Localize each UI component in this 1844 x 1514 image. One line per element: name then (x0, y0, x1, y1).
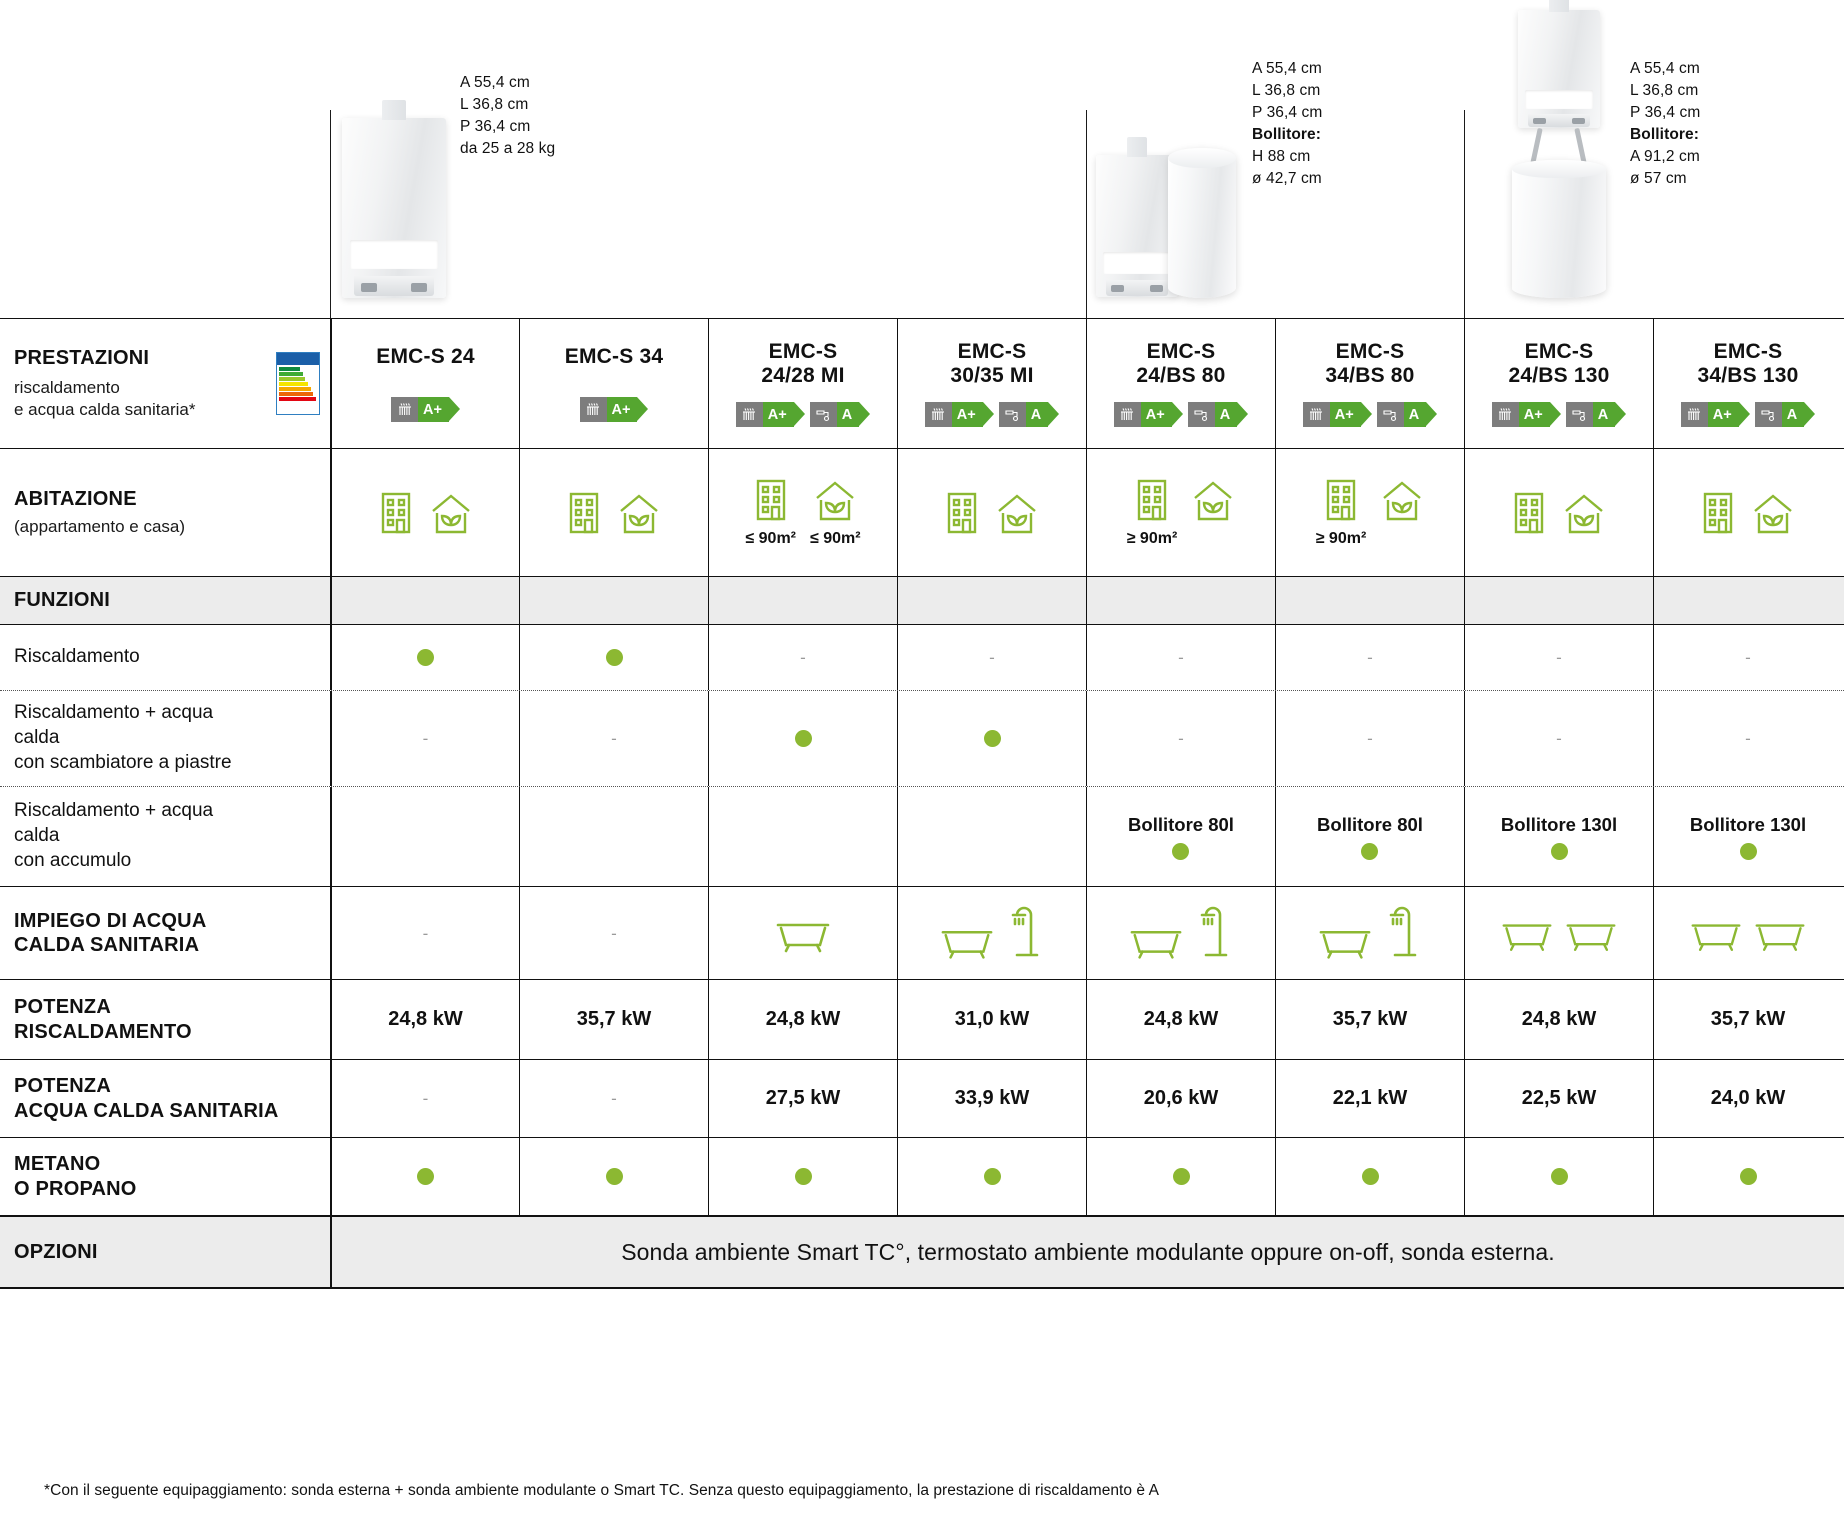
building-icon (379, 491, 413, 535)
cell-riscaldamento-5: - (1275, 625, 1464, 690)
energy-badges-7: A+ A (1681, 402, 1815, 427)
cell-abitazione-7 (1653, 449, 1842, 576)
model-name-2: EMC-S 24/28 MI (761, 340, 844, 389)
house-leaf-icon (1191, 478, 1235, 522)
building-icon (567, 491, 601, 535)
cell-funzioni-7 (1653, 577, 1842, 624)
cell-prestazioni-3: EMC-S 30/35 MI A+ A (897, 319, 1086, 448)
bathtub-icon (1564, 913, 1618, 953)
row-riscaldamento: Riscaldamento - - - - - - (0, 624, 1844, 690)
dimensions-bs80: A 55,4 cm L 36,8 cm P 36,4 cm Bollitore:… (1252, 58, 1322, 190)
no-dash: - (611, 1090, 617, 1107)
building-icon (945, 491, 979, 535)
shower-icon (1009, 905, 1045, 961)
yes-dot (1551, 843, 1568, 860)
bathtub-icon (1500, 913, 1554, 953)
cell-impiego-7 (1653, 887, 1842, 979)
no-dash: - (1178, 730, 1184, 747)
energy-badges-6: A+ A (1492, 402, 1626, 427)
house-leaf-icon (1751, 491, 1795, 535)
cell-riscaldamento-0 (330, 625, 519, 690)
bathtub-icon (1317, 919, 1373, 961)
area-tag-building-2: ≤ 90m² (745, 530, 796, 548)
cell-abitazione-2: ≤ 90m² ≤ 90m² (708, 449, 897, 576)
cell-riscaldamento-6: - (1464, 625, 1653, 690)
cell-risc-piastre-3 (897, 691, 1086, 786)
cell-risc-piastre-4: - (1086, 691, 1275, 786)
row-label-riscaldamento-piastre: Riscaldamento + acqua calda con scambiat… (0, 691, 330, 786)
cell-potenza-acs-0: - (330, 1060, 519, 1137)
no-dash: - (423, 730, 429, 747)
yes-dot (417, 649, 434, 666)
boiler-image (342, 118, 446, 298)
funzioni-title: FUNZIONI (14, 588, 330, 612)
row-label-abitazione: ABITAZIONE (appartamento e casa) (0, 449, 330, 576)
impiego-title: IMPIEGO DI ACQUA CALDA SANITARIA (14, 909, 330, 958)
cell-potenza-risc-0: 24,8 kW (330, 980, 519, 1059)
cell-metano-4 (1086, 1138, 1275, 1215)
model-name-4: EMC-S 24/BS 80 (1136, 340, 1225, 389)
cell-metano-2 (708, 1138, 897, 1215)
no-dash: - (1745, 730, 1751, 747)
row-prestazioni: PRESTAZIONI riscaldamento e acqua calda … (0, 318, 1844, 448)
metano-title: METANO O PROPANO (14, 1152, 330, 1201)
house-leaf-icon (813, 478, 857, 522)
prestazioni-sub1: riscaldamento (14, 377, 264, 399)
abitazione-sub: (appartamento e casa) (14, 516, 330, 538)
bollitore-caption-5: Bollitore 80l (1317, 814, 1423, 836)
cell-riscaldamento-4: - (1086, 625, 1275, 690)
row-label-metano: METANO O PROPANO (0, 1138, 330, 1215)
row-riscaldamento-accumulo: Riscaldamento + acqua calda con accumulo… (0, 786, 1844, 886)
cell-opzioni-text: Sonda ambiente Smart TC°, termostato amb… (330, 1217, 1844, 1287)
cell-metano-3 (897, 1138, 1086, 1215)
row-opzioni: OPZIONI Sonda ambiente Smart TC°, termos… (0, 1215, 1844, 1289)
cell-impiego-6 (1464, 887, 1653, 979)
cell-abitazione-1 (519, 449, 708, 576)
bathtub-icon (1753, 913, 1807, 953)
cell-metano-5 (1275, 1138, 1464, 1215)
no-dash: - (423, 1090, 429, 1107)
cell-potenza-acs-2: 27,5 kW (708, 1060, 897, 1137)
dimensions-bs130: A 55,4 cm L 36,8 cm P 36,4 cm Bollitore:… (1630, 58, 1700, 190)
yes-dot (795, 730, 812, 747)
no-dash: - (1367, 730, 1373, 747)
building-icon (1135, 478, 1169, 522)
yes-dot (417, 1168, 434, 1185)
yes-dot (606, 649, 623, 666)
no-dash: - (989, 649, 995, 666)
row-label-potenza-acs: POTENZA ACQUA CALDA SANITARIA (0, 1060, 330, 1137)
cell-potenza-acs-6: 22,5 kW (1464, 1060, 1653, 1137)
bathtub-icon (1689, 913, 1743, 953)
cell-riscaldamento-7: - (1653, 625, 1842, 690)
potenza-risc-title: POTENZA RISCALDAMENTO (14, 995, 330, 1044)
no-dash: - (611, 730, 617, 747)
row-label-riscaldamento: Riscaldamento (0, 625, 330, 690)
storage-tank-image-80l (1168, 148, 1236, 298)
cell-funzioni-0 (330, 577, 519, 624)
cell-potenza-risc-6: 24,8 kW (1464, 980, 1653, 1059)
energy-badges-1: A+ (580, 397, 649, 422)
area-tag-building-5: ≥ 90m² (1316, 530, 1367, 548)
cell-metano-1 (519, 1138, 708, 1215)
cell-riscaldamento-2: - (708, 625, 897, 690)
storage-tank-image-130l (1512, 160, 1606, 298)
row-metano-propano: METANO O PROPANO (0, 1137, 1844, 1215)
row-label-opzioni: OPZIONI (0, 1217, 330, 1287)
cell-potenza-risc-4: 24,8 kW (1086, 980, 1275, 1059)
cell-potenza-acs-1: - (519, 1060, 708, 1137)
no-dash: - (1178, 649, 1184, 666)
bollitore-caption-6: Bollitore 130l (1501, 814, 1617, 836)
yes-dot (1361, 843, 1378, 860)
row-funzioni-header: FUNZIONI (0, 576, 1844, 624)
cell-risc-piastre-6: - (1464, 691, 1653, 786)
cell-risc-piastre-1: - (519, 691, 708, 786)
cell-risc-accumulo-2 (708, 787, 897, 886)
bathtub-icon (1128, 919, 1184, 961)
energy-badges-4: A+ A (1114, 402, 1248, 427)
house-leaf-icon (429, 491, 473, 535)
opzioni-title: OPZIONI (14, 1240, 330, 1264)
no-dash: - (423, 925, 429, 942)
row-abitazione: ABITAZIONE (appartamento e casa) ≤ 90m² (0, 448, 1844, 576)
cell-prestazioni-0: EMC-S 24 A+ (330, 319, 519, 448)
cell-prestazioni-1: EMC-S 34 A+ (519, 319, 708, 448)
energy-badges-2: A+ A (736, 402, 870, 427)
no-dash: - (1556, 649, 1562, 666)
cell-funzioni-2 (708, 577, 897, 624)
cell-impiego-5 (1275, 887, 1464, 979)
shower-icon (1387, 905, 1423, 961)
cell-potenza-risc-7: 35,7 kW (1653, 980, 1842, 1059)
no-dash: - (800, 649, 806, 666)
house-leaf-icon (1380, 478, 1424, 522)
building-icon (1701, 491, 1735, 535)
row-label-riscaldamento-accumulo: Riscaldamento + acqua calda con accumulo (0, 787, 330, 886)
cell-risc-accumulo-7: Bollitore 130l (1653, 787, 1842, 886)
cell-abitazione-4: ≥ 90m² (1086, 449, 1275, 576)
cell-risc-accumulo-4: Bollitore 80l (1086, 787, 1275, 886)
cell-metano-7 (1653, 1138, 1842, 1215)
no-dash: - (1556, 730, 1562, 747)
row-label-potenza-risc: POTENZA RISCALDAMENTO (0, 980, 330, 1059)
cell-risc-accumulo-5: Bollitore 80l (1275, 787, 1464, 886)
building-icon (1324, 478, 1358, 522)
cell-funzioni-1 (519, 577, 708, 624)
yes-dot (1172, 843, 1189, 860)
row-impiego-acqua: IMPIEGO DI ACQUA CALDA SANITARIA - - (0, 886, 1844, 979)
building-icon (754, 478, 788, 522)
cell-potenza-acs-7: 24,0 kW (1653, 1060, 1842, 1137)
model-name-5: EMC-S 34/BS 80 (1325, 340, 1414, 389)
cell-funzioni-6 (1464, 577, 1653, 624)
yes-dot (1551, 1168, 1568, 1185)
cell-abitazione-5: ≥ 90m² (1275, 449, 1464, 576)
house-leaf-icon (995, 491, 1039, 535)
cell-metano-0 (330, 1138, 519, 1215)
cell-potenza-risc-3: 31,0 kW (897, 980, 1086, 1059)
cell-prestazioni-2: EMC-S 24/28 MI A+ A (708, 319, 897, 448)
cell-funzioni-3 (897, 577, 1086, 624)
cell-risc-accumulo-3 (897, 787, 1086, 886)
risc-piastre-title: Riscaldamento + acqua calda con scambiat… (14, 701, 330, 775)
row-potenza-riscaldamento: POTENZA RISCALDAMENTO 24,8 kW 35,7 kW 24… (0, 979, 1844, 1059)
cell-risc-accumulo-0 (330, 787, 519, 886)
cell-abitazione-3 (897, 449, 1086, 576)
cell-impiego-4 (1086, 887, 1275, 979)
product-images-band: A 55,4 cm L 36,8 cm P 36,4 cm da 25 a 28… (0, 0, 1844, 318)
cell-abitazione-6 (1464, 449, 1653, 576)
row-label-funzioni: FUNZIONI (0, 577, 330, 624)
shower-icon (1198, 905, 1234, 961)
model-name-7: EMC-S 34/BS 130 (1697, 340, 1798, 389)
row-potenza-acs: POTENZA ACQUA CALDA SANITARIA - - 27,5 k… (0, 1059, 1844, 1137)
bathtub-icon (774, 912, 832, 954)
model-name-0: EMC-S 24 (376, 345, 474, 369)
energy-badges-3: A+ A (925, 402, 1059, 427)
boiler-image-bs80 (1096, 155, 1178, 297)
cell-risc-accumulo-1 (519, 787, 708, 886)
cell-potenza-acs-5: 22,1 kW (1275, 1060, 1464, 1137)
cell-potenza-acs-4: 20,6 kW (1086, 1060, 1275, 1137)
row-label-impiego: IMPIEGO DI ACQUA CALDA SANITARIA (0, 887, 330, 979)
product-comparison-table: A 55,4 cm L 36,8 cm P 36,4 cm da 25 a 28… (0, 0, 1844, 1514)
bollitore-caption-4: Bollitore 80l (1128, 814, 1234, 836)
footnote: *Con il seguente equipaggiamento: sonda … (44, 1482, 1159, 1500)
house-leaf-icon (1562, 491, 1606, 535)
energy-label-icon (276, 352, 320, 415)
no-dash: - (1745, 649, 1751, 666)
cell-abitazione-0 (330, 449, 519, 576)
cell-funzioni-5 (1275, 577, 1464, 624)
bathtub-icon (939, 919, 995, 961)
abitazione-title: ABITAZIONE (14, 487, 330, 511)
energy-badges-0: A+ (391, 397, 460, 422)
building-icon (1512, 491, 1546, 535)
cell-impiego-3 (897, 887, 1086, 979)
cell-potenza-risc-2: 24,8 kW (708, 980, 897, 1059)
yes-dot (795, 1168, 812, 1185)
area-tag-building-4: ≥ 90m² (1127, 530, 1178, 548)
model-name-1: EMC-S 34 (565, 345, 663, 369)
row-riscaldamento-piastre: Riscaldamento + acqua calda con scambiat… (0, 690, 1844, 786)
cell-impiego-2 (708, 887, 897, 979)
product-image-group-bs130: A 55,4 cm L 36,8 cm P 36,4 cm Bollitore:… (1464, 0, 1842, 318)
model-name-3: EMC-S 30/35 MI (950, 340, 1033, 389)
bollitore-caption-7: Bollitore 130l (1690, 814, 1806, 836)
cell-prestazioni-5: EMC-S 34/BS 80 A+ A (1275, 319, 1464, 448)
area-tag-house-2: ≤ 90m² (810, 530, 861, 548)
riscaldamento-title: Riscaldamento (14, 645, 330, 670)
house-leaf-icon (617, 491, 661, 535)
risc-accumulo-title: Riscaldamento + acqua calda con accumulo (14, 799, 330, 873)
prestazioni-title: PRESTAZIONI (14, 346, 264, 370)
cell-potenza-acs-3: 33,9 kW (897, 1060, 1086, 1137)
image-band-label-spacer (0, 0, 330, 318)
row-label-prestazioni: PRESTAZIONI riscaldamento e acqua calda … (0, 319, 330, 448)
cell-prestazioni-4: EMC-S 24/BS 80 A+ A (1086, 319, 1275, 448)
cell-risc-piastre-7: - (1653, 691, 1842, 786)
cell-funzioni-4 (1086, 577, 1275, 624)
product-image-group-bs80: A 55,4 cm L 36,8 cm P 36,4 cm Bollitore:… (1086, 0, 1464, 318)
model-name-6: EMC-S 24/BS 130 (1508, 340, 1609, 389)
yes-dot (1740, 843, 1757, 860)
energy-badges-5: A+ A (1303, 402, 1437, 427)
yes-dot (606, 1168, 623, 1185)
potenza-acs-title: POTENZA ACQUA CALDA SANITARIA (14, 1074, 330, 1123)
cell-metano-6 (1464, 1138, 1653, 1215)
cell-potenza-risc-1: 35,7 kW (519, 980, 708, 1059)
product-image-group-combi: A 55,4 cm L 36,8 cm P 36,4 cm da 25 a 28… (330, 0, 1086, 318)
dimensions-combi: A 55,4 cm L 36,8 cm P 36,4 cm da 25 a 28… (460, 72, 555, 160)
cell-prestazioni-6: EMC-S 24/BS 130 A+ A (1464, 319, 1653, 448)
yes-dot (1362, 1168, 1379, 1185)
cell-risc-piastre-0: - (330, 691, 519, 786)
cell-impiego-1: - (519, 887, 708, 979)
cell-riscaldamento-3: - (897, 625, 1086, 690)
cell-potenza-risc-5: 35,7 kW (1275, 980, 1464, 1059)
cell-prestazioni-7: EMC-S 34/BS 130 A+ A (1653, 319, 1842, 448)
cell-riscaldamento-1 (519, 625, 708, 690)
yes-dot (1740, 1168, 1757, 1185)
cell-impiego-0: - (330, 887, 519, 979)
yes-dot (984, 1168, 1001, 1185)
prestazioni-sub2: e acqua calda sanitaria* (14, 399, 264, 421)
cell-risc-piastre-2 (708, 691, 897, 786)
yes-dot (1173, 1168, 1190, 1185)
boiler-image-bs130 (1518, 10, 1600, 128)
yes-dot (984, 730, 1001, 747)
no-dash: - (1367, 649, 1373, 666)
cell-risc-accumulo-6: Bollitore 130l (1464, 787, 1653, 886)
cell-risc-piastre-5: - (1275, 691, 1464, 786)
no-dash: - (611, 925, 617, 942)
